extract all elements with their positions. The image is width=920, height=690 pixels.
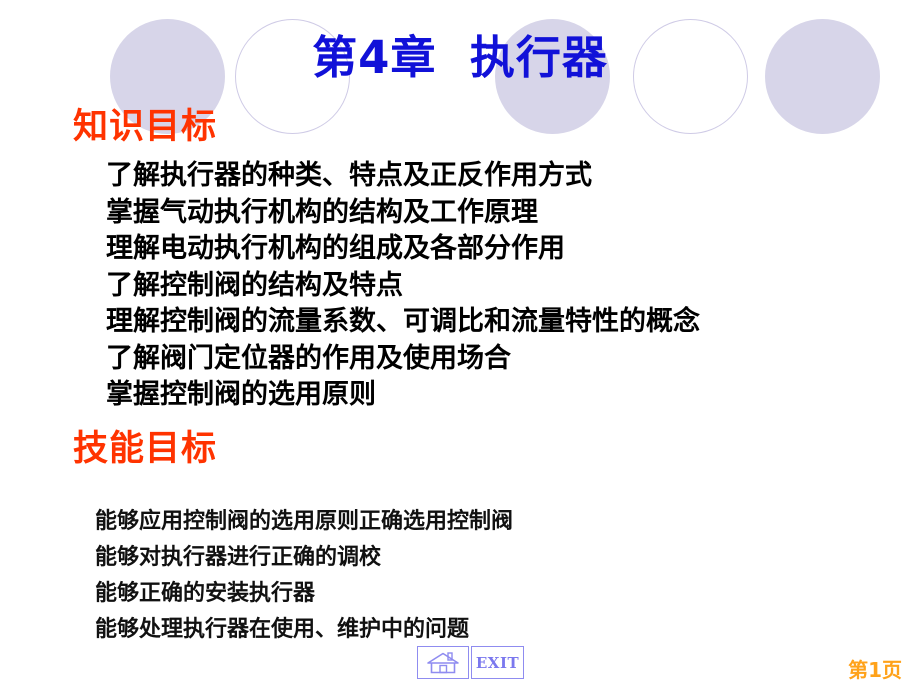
list-item: 能够处理执行器在使用、维护中的问题 [95,612,885,648]
home-icon [426,651,460,675]
exit-button[interactable]: EXIT [471,646,524,679]
section-heading-skill: 技能目标 [73,429,217,469]
list-item: 能够应用控制阀的选用原则正确选用控制阀 [95,504,885,540]
list-item: 了解执行器的种类、特点及正反作用方式 [106,158,906,195]
list-item: 了解阀门定位器的作用及使用场合 [106,341,906,378]
list-item: 掌握控制阀的选用原则 [106,377,906,414]
list-item: 能够正确的安装执行器 [95,576,885,612]
list-item: 掌握气动执行机构的结构及工作原理 [106,195,906,232]
exit-button-label: EXIT [476,655,519,671]
section-heading-knowledge: 知识目标 [73,107,217,147]
knowledge-objectives-list: 了解执行器的种类、特点及正反作用方式 掌握气动执行机构的结构及工作原理 理解电动… [106,158,906,414]
page-title: 第4章 执行器 [0,30,920,86]
slide-canvas: 第4章 执行器 知识目标 了解执行器的种类、特点及正反作用方式 掌握气动执行机构… [0,0,920,690]
footer-navigation: EXIT [417,646,524,679]
list-item: 能够对执行器进行正确的调校 [95,540,885,576]
home-button[interactable] [417,646,469,679]
list-item: 理解电动执行机构的组成及各部分作用 [106,231,906,268]
list-item: 了解控制阀的结构及特点 [106,268,906,305]
list-item: 理解控制阀的流量系数、可调比和流量特性的概念 [106,304,906,341]
skill-objectives-list: 能够应用控制阀的选用原则正确选用控制阀 能够对执行器进行正确的调校 能够正确的安… [95,504,885,648]
page-number: 第1页 [848,658,902,682]
